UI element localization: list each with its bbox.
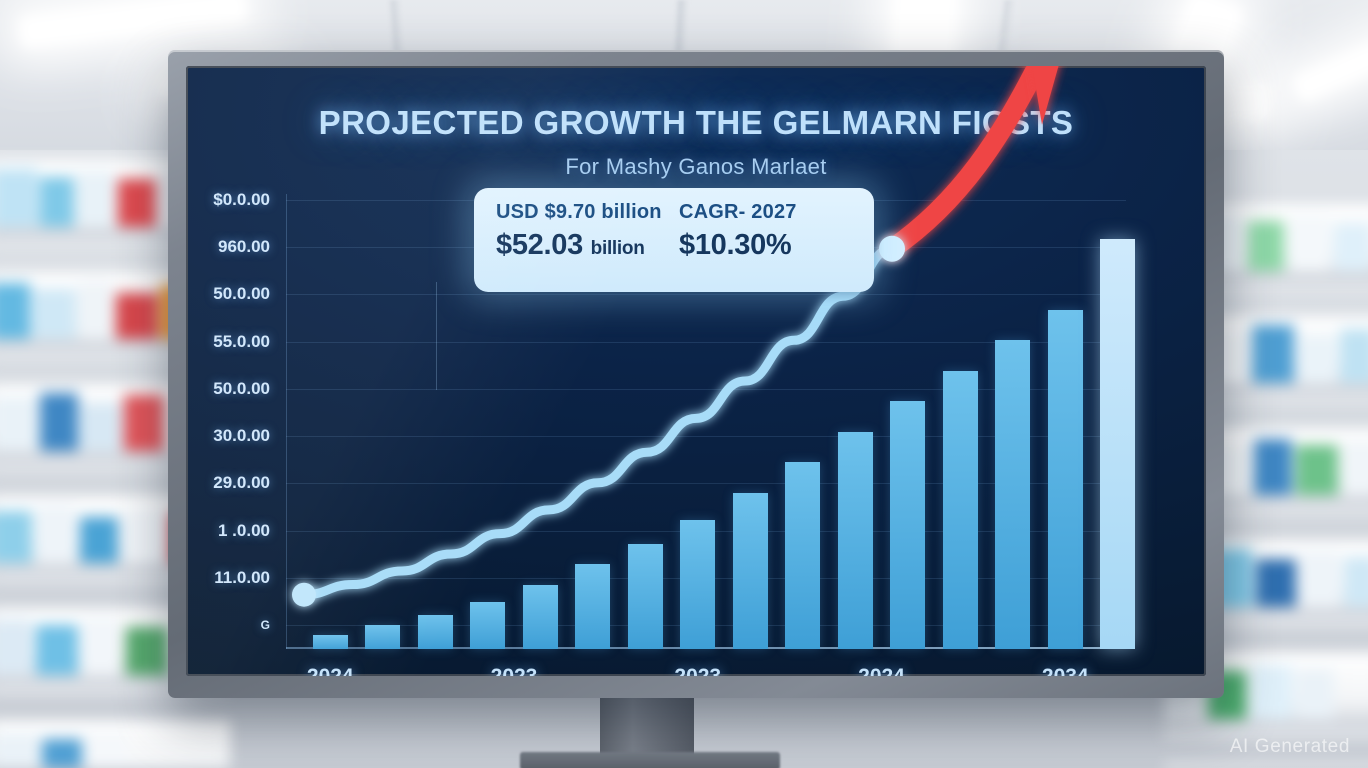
x-axis-tick-label: 2024: [858, 665, 905, 676]
kpi-left-value: $52.03 billion: [496, 229, 669, 262]
screenshot-scene: PROJECTED GROWTH THE GELMARN FIOSTS For …: [0, 0, 1368, 768]
line-start-marker: [292, 583, 316, 607]
x-axis-tick-label: 2023: [674, 665, 721, 676]
kpi-right: CAGR- 2027 $10.30%: [679, 201, 852, 279]
ai-generated-watermark: AI Generated: [1230, 736, 1350, 758]
kpi-callout-box: USD $9.70 billion $52.03 billion CAGR- 2…: [474, 188, 874, 292]
y-axis-tick-label: 960.00: [218, 237, 270, 257]
y-axis-tick-label: G: [261, 618, 270, 632]
y-axis-tick-label: 11.0.00: [214, 568, 270, 588]
kpi-left-unit: billion: [591, 238, 645, 259]
y-axis-tick-label: 50.0.00: [213, 379, 270, 399]
y-axis-tick-label: 1 .0.00: [218, 521, 270, 541]
kpi-left-label: USD $9.70 billion: [496, 201, 669, 224]
kpi-left: USD $9.70 billion $52.03 billion: [496, 201, 669, 279]
y-axis-tick-label: 50.0.00: [213, 284, 270, 304]
y-axis-tick-label: 30.0.00: [213, 426, 270, 446]
kpi-right-label: CAGR- 2027: [679, 201, 852, 224]
display-screen: PROJECTED GROWTH THE GELMARN FIOSTS For …: [186, 66, 1206, 676]
x-axis-tick-label: 2024: [307, 665, 354, 676]
kpi-left-number: $52.03: [496, 229, 583, 261]
x-axis-tick-label: 2034: [1042, 665, 1089, 676]
trend-line: [304, 249, 892, 595]
y-axis-tick-label: $0.0.00: [213, 190, 270, 210]
y-axis-tick-label: 29.0.00: [213, 473, 270, 493]
monitor-stand-base: [520, 752, 780, 768]
display-monitor: PROJECTED GROWTH THE GELMARN FIOSTS For …: [168, 50, 1224, 698]
y-axis-tick-label: 55.0.00: [213, 332, 270, 352]
page-subtitle: For Mashy Ganos Marlaet: [186, 154, 1206, 180]
kpi-right-value: $10.30%: [679, 229, 852, 262]
line-end-marker: [879, 236, 905, 262]
x-axis-tick-label: 2023: [491, 665, 538, 676]
page-title: PROJECTED GROWTH THE GELMARN FIOSTS: [186, 104, 1206, 142]
